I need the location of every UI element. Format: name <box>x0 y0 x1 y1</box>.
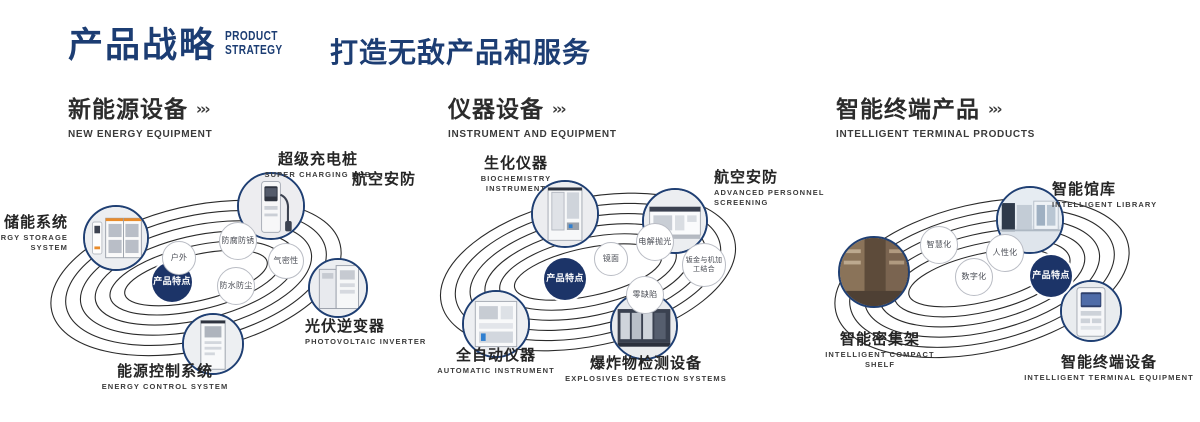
feature-bubble-mirror-finish[interactable]: 镜面 <box>594 242 628 276</box>
feature-bubble-airtightness[interactable]: 气密性 <box>268 243 304 279</box>
page-title-en-line1: PRODUCT <box>225 29 283 43</box>
feature-label: 户外 <box>171 253 188 263</box>
label-aviation-security-left: 航空安防 <box>316 170 416 188</box>
label-energy-control-system: 能源控制系统 ENERGY CONTROL SYSTEM <box>75 362 255 392</box>
label-en: EXPLOSIVES DETECTION SYSTEMS <box>551 374 741 384</box>
section-title-cn: 新能源设备 <box>68 97 188 123</box>
node-intelligent-compact-shelf[interactable] <box>838 236 910 308</box>
cluster-intelligent-terminal: 产品特点 智慧化 数字化 人性化 智能馆库 INTELLIGENT LIBRAR… <box>800 150 1200 410</box>
feature-label: 钣金与机加工结合 <box>683 256 725 274</box>
core-badge-label: 产品特点 <box>546 274 584 285</box>
page-title-en-line2: STRATEGY <box>225 43 283 57</box>
label-intelligent-library: 智能馆库 INTELLIGENT LIBRARY <box>1052 180 1200 210</box>
label-cn: 生化仪器 <box>441 154 591 172</box>
energy-storage-photo <box>85 207 147 269</box>
feature-label: 人性化 <box>993 248 1018 258</box>
feature-label: 数字化 <box>962 272 987 282</box>
core-badge-label: 产品特点 <box>153 277 191 288</box>
intelligent-terminal-equipment-photo <box>1062 282 1120 340</box>
page-title: 产品战略 <box>68 24 216 68</box>
section-heading-intelligent-terminal: 智能终端产品››› INTELLIGENT TERMINAL PRODUCTS <box>836 96 1035 140</box>
feature-bubble-intelligent[interactable]: 智慧化 <box>920 226 958 264</box>
section-heading-instrument: 仪器设备››› INSTRUMENT AND EQUIPMENT <box>448 96 617 140</box>
core-badge-product-features[interactable]: 产品特点 <box>544 258 586 300</box>
cluster-instrument: 产品特点 镜面 电解抛光 钣金与机加工结合 零缺陷 航空安防 生化仪器 BIOC… <box>396 150 796 410</box>
feature-bubble-electropolishing[interactable]: 电解抛光 <box>636 223 674 261</box>
section-title-en: INSTRUMENT AND EQUIPMENT <box>448 129 617 140</box>
chevron-right-icon: ››› <box>196 96 209 122</box>
cluster-new-energy: 产品特点 户外 防腐防锈 防水防尘 气密性 储能系统 ENERGY STORAG… <box>0 150 400 410</box>
intelligent-compact-shelf-photo <box>840 238 908 306</box>
label-biochemistry-instrument: 生化仪器 BIOCHEMISTRYINSTRUMENT <box>441 154 591 194</box>
label-en: INTELLIGENT TERMINAL EQUIPMENT <box>1004 373 1200 383</box>
label-intelligent-terminal-equipment: 智能终端设备 INTELLIGENT TERMINAL EQUIPMENT <box>1004 353 1200 383</box>
label-cn: 航空安防 <box>316 170 416 188</box>
photovoltaic-inverter-photo <box>310 260 366 316</box>
label-en: BIOCHEMISTRYINSTRUMENT <box>441 174 591 194</box>
section-heading-new-energy: 新能源设备››› NEW ENERGY EQUIPMENT <box>68 96 212 140</box>
label-cn: 智能终端设备 <box>1004 353 1200 371</box>
label-en: INTELLIGENT COMPACTSHELF <box>790 350 970 370</box>
feature-bubble-zero-defect[interactable]: 零缺陷 <box>626 276 664 314</box>
label-intelligent-compact-shelf: 智能密集架 INTELLIGENT COMPACTSHELF <box>790 330 970 370</box>
label-cn: 智能馆库 <box>1052 180 1200 198</box>
feature-label: 防腐防锈 <box>221 236 254 246</box>
feature-bubble-sheetmetal-machining[interactable]: 钣金与机加工结合 <box>682 243 726 287</box>
section-title-cn: 仪器设备 <box>448 97 544 123</box>
feature-label: 防水防尘 <box>219 281 252 291</box>
page-title-en: PRODUCT STRATEGY <box>225 29 283 57</box>
feature-bubble-waterproof-dustproof[interactable]: 防水防尘 <box>217 267 255 305</box>
core-badge-label: 产品特点 <box>1032 271 1070 282</box>
label-cn: 智能密集架 <box>790 330 970 348</box>
feature-label: 气密性 <box>274 256 299 266</box>
label-cn: 爆炸物检测设备 <box>551 354 741 372</box>
feature-label: 电解抛光 <box>638 237 671 247</box>
node-intelligent-terminal-equipment[interactable] <box>1060 280 1122 342</box>
feature-label: 镜面 <box>603 254 620 264</box>
section-title-en: NEW ENERGY EQUIPMENT <box>68 129 212 140</box>
chevron-right-icon: ››› <box>552 96 565 122</box>
core-badge-product-features[interactable]: 产品特点 <box>1030 255 1072 297</box>
label-cn: 能源控制系统 <box>75 362 255 380</box>
section-title-en: INTELLIGENT TERMINAL PRODUCTS <box>836 129 1035 140</box>
label-en: ENERGY STORAGESYSTEM <box>0 233 68 253</box>
label-explosives-detection: 爆炸物检测设备 EXPLOSIVES DETECTION SYSTEMS <box>551 354 741 384</box>
poster-canvas: 产品战略 PRODUCT STRATEGY 打造无敌产品和服务 新能源设备›››… <box>0 0 1200 422</box>
section-title-cn: 智能终端产品 <box>836 97 980 123</box>
label-cn: 储能系统 <box>0 213 68 231</box>
feature-label: 智慧化 <box>927 240 952 250</box>
feature-label: 零缺陷 <box>633 290 658 300</box>
feature-bubble-anti-corrosion[interactable]: 防腐防锈 <box>219 222 257 260</box>
feature-bubble-digitalization[interactable]: 数字化 <box>955 258 993 296</box>
node-photovoltaic-inverter[interactable] <box>308 258 368 318</box>
label-en: INTELLIGENT LIBRARY <box>1052 200 1200 210</box>
feature-bubble-humanization[interactable]: 人性化 <box>986 234 1024 272</box>
feature-bubble-outdoor[interactable]: 户外 <box>162 241 196 275</box>
chevron-right-icon: ››› <box>988 96 1001 122</box>
node-energy-storage-system[interactable] <box>83 205 149 271</box>
page-subtitle: 打造无敌产品和服务 <box>330 31 591 71</box>
label-energy-storage-system: 储能系统 ENERGY STORAGESYSTEM <box>0 213 68 253</box>
label-cn: 超级充电桩 <box>238 150 398 168</box>
poster-header: 产品战略 PRODUCT STRATEGY <box>68 24 299 68</box>
label-en: ENERGY CONTROL SYSTEM <box>75 382 255 392</box>
